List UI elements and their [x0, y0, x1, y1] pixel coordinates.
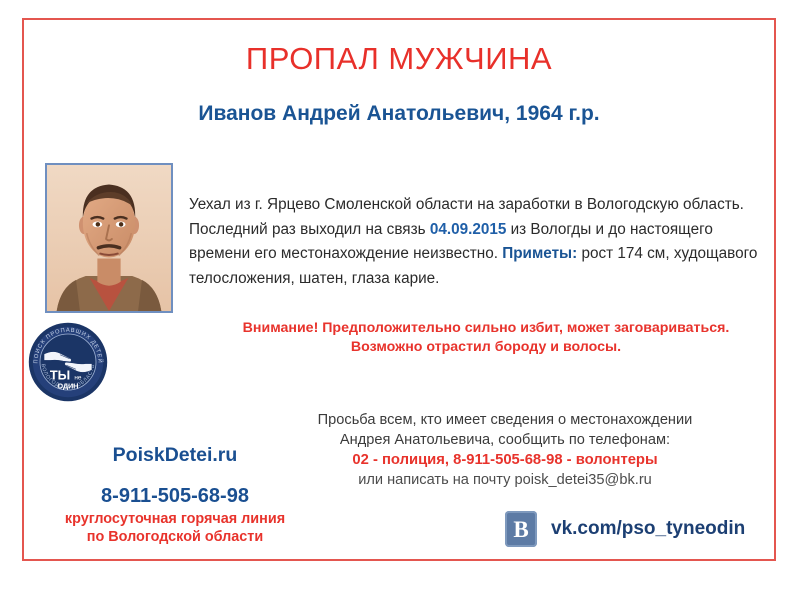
vk-link-row[interactable]: B vk.com/pso_tyneodin	[505, 511, 745, 547]
organization-logo: ПОИСК ПРОПАВШИХ ДЕТЕЙ ВОЛОГОДСКАЯ ОБЛАСТ…	[28, 322, 108, 402]
vk-link-text[interactable]: vk.com/pso_tyneodin	[551, 517, 745, 541]
vk-icon[interactable]: B	[505, 511, 537, 547]
website-link[interactable]: PoiskDetei.ru	[40, 443, 310, 467]
last-contact-date: 04.09.2015	[430, 221, 507, 238]
appeal-line-2: Андрея Анатольевича, сообщить по телефон…	[290, 430, 720, 450]
hotline-caption-line-1: круглосуточная горячая линия	[30, 510, 320, 528]
contact-phones[interactable]: 02 - полиция, 8-911-505-68-98 - волонтер…	[290, 450, 720, 470]
org-logo-bottom-text: ОДИН	[58, 381, 79, 390]
vk-icon-letter: B	[513, 518, 528, 541]
warning-line-1: Внимание! Предположительно сильно избит,…	[186, 319, 786, 338]
warning-notice: Внимание! Предположительно сильно избит,…	[186, 319, 786, 357]
contact-email-line[interactable]: или написать на почту poisk_detei35@bk.r…	[290, 470, 720, 490]
org-logo-graphic: ПОИСК ПРОПАВШИХ ДЕТЕЙ ВОЛОГОДСКАЯ ОБЛАСТ…	[28, 322, 108, 402]
subject-photo	[45, 163, 173, 313]
org-logo-main-text: ТЫ	[50, 368, 70, 383]
subject-photo-image	[47, 165, 171, 311]
description-text: Уехал из г. Ярцево Смоленской области на…	[189, 193, 777, 291]
poster-title: ПРОПАЛ МУЖЧИНА	[22, 40, 776, 78]
appeal-block: Просьба всем, кто имеет сведения о место…	[290, 410, 720, 490]
hotline-number[interactable]: 8-911-505-68-98	[40, 484, 310, 508]
hotline-caption: круглосуточная горячая линия по Вологодс…	[30, 510, 320, 546]
hotline-caption-line-2: по Вологодской области	[30, 528, 320, 546]
warning-line-2: Возможно отрастил бороду и волосы.	[186, 338, 786, 357]
appeal-line-1: Просьба всем, кто имеет сведения о место…	[290, 410, 720, 430]
org-logo-small-text: не	[74, 375, 82, 382]
missing-person-poster: ПРОПАЛ МУЖЧИНА Иванов Андрей Анатольевич…	[0, 0, 800, 600]
features-label: Приметы:	[502, 245, 577, 262]
subject-name-heading: Иванов Андрей Анатольевич, 1964 г.р.	[22, 100, 776, 128]
